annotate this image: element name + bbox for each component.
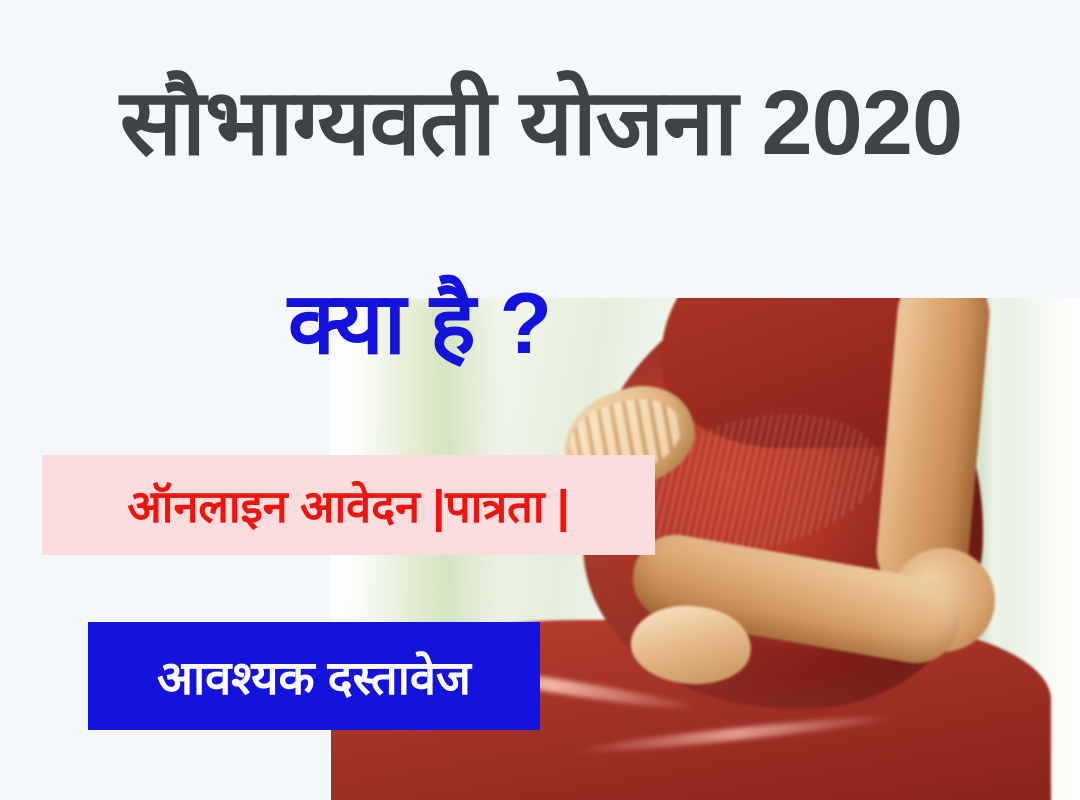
page-title: सौभाग्यवती योजना 2020 <box>30 72 1052 175</box>
poster-canvas: सौभाग्यवती योजना 2020 क्या है ? ऑनलाइन आ… <box>0 0 1080 800</box>
required-documents-banner-label: आवश्यक दस्तावेज <box>157 644 471 708</box>
online-application-banner: ऑनलाइन आवेदन |पात्रता | <box>42 455 655 555</box>
required-documents-banner: आवश्यक दस्तावेज <box>88 622 540 730</box>
page-subtitle: क्या है ? <box>210 276 630 372</box>
online-application-banner-label: ऑनलाइन आवेदन |पात्रता | <box>127 475 569 536</box>
